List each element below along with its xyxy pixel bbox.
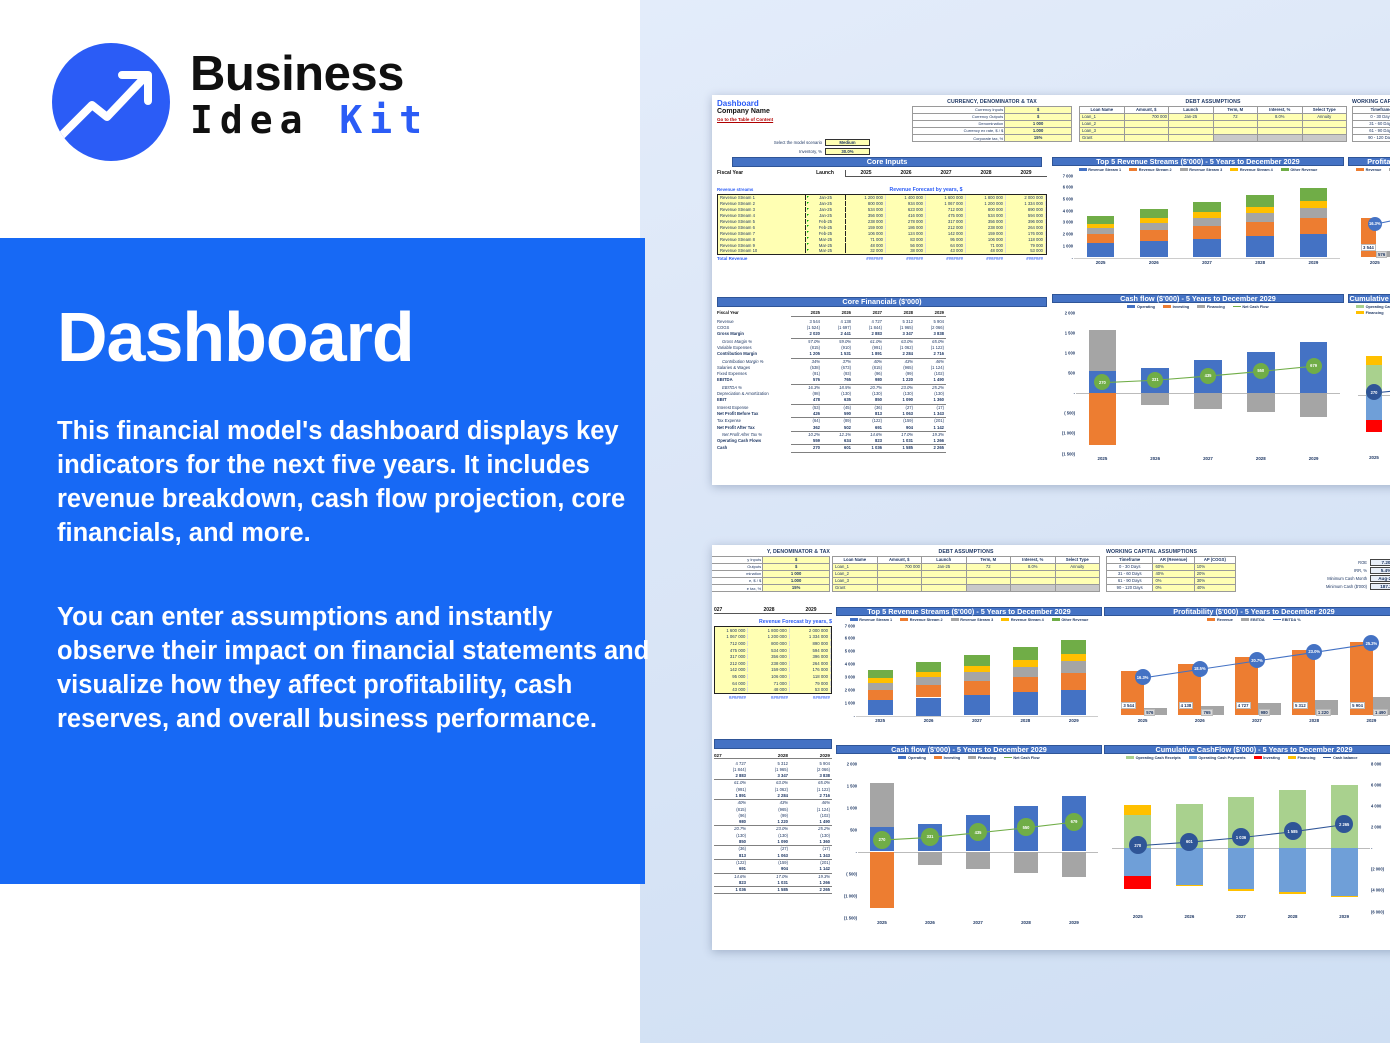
currency-row-value[interactable]: 1 000 [1005,121,1072,128]
revenue-stream-value[interactable]: 48 000 [748,687,789,692]
currency-denominator-tax-block: Y, DENOMINATOR & TAX y Inputs$Outputs$mi… [712,549,830,592]
debt-block-title: DEBT ASSUMPTIONS [1079,99,1347,105]
debt-cell[interactable] [1302,128,1347,135]
revenue-stream-value[interactable]: 800 000 [748,641,789,646]
table-row: 1 600 0001 800 0002 000 000 [715,627,831,634]
data-point-marker: 550 [1253,363,1269,379]
revenue-stream-value[interactable]: 2 000 000 [790,628,831,633]
revenue-stream-value[interactable]: 83 000 [886,237,926,242]
revenue-stream-value[interactable]: 106 000 [846,231,886,236]
kpi-row: ROE7.20 [1252,559,1390,566]
revenue-stream-value[interactable]: 79 000 [1006,243,1046,248]
revenue-stream-value[interactable]: 800 000 [846,201,886,206]
wc-rows: 0 - 30 Days60%10%31 - 60 Days40%20%61 - … [1107,564,1236,592]
revenue-stream-value[interactable]: 594 000 [1006,213,1046,218]
revenue-stream-value[interactable]: 356 000 [748,654,789,659]
debt-cell[interactable] [1302,121,1347,128]
revenue-stream-value[interactable]: 71 000 [846,237,886,242]
debt-cell[interactable] [1258,121,1303,128]
currency-row-value[interactable]: 15% [1005,135,1072,142]
debt-cell[interactable] [1011,578,1056,585]
revenue-stream-value[interactable]: 124 000 [886,231,926,236]
fin-year-header: 027 [714,753,748,758]
revenue-streams-table[interactable]: 02720282029 Revenue Forecast by years, $… [714,607,832,700]
debt-rows: Loan_1700 000Jan-25728.0%AnnuityLoan_2Lo… [833,564,1100,592]
revenue-stream-value[interactable]: 1 200 000 [748,634,789,639]
bar-segment [1140,209,1168,218]
fin-row-value: 1 090 [748,839,790,845]
bar-segment [1140,218,1168,223]
scenario-controls[interactable]: Select the model scenario Medium Invento… [730,139,870,155]
revenue-stream-value[interactable]: 118 000 [790,674,831,679]
revenue-stream-name[interactable]: Revenue Stream 3 [718,207,806,212]
revenue-stream-value[interactable]: 1 600 000 [715,628,748,633]
revenue-stream-launch[interactable]: Feb-25 [806,219,846,224]
inventory-input[interactable]: 30.0% [825,148,870,155]
comment-marker-icon [807,249,809,251]
revenue-stream-value[interactable]: 890 000 [1006,207,1046,212]
bar-segment [1193,212,1221,218]
wc-cell[interactable]: 60% [1153,564,1194,571]
debt-cell[interactable]: Annuity [1055,564,1100,571]
currency-row-value[interactable]: 1.000 [1005,128,1072,135]
debt-cell[interactable] [922,571,967,578]
revenue-stream-value[interactable]: 317 000 [926,219,966,224]
bar-segment [1300,208,1328,218]
wc-column-header: AR (Revenue) [1153,557,1194,564]
fin-row-value: 3 347 [884,331,915,337]
fin-row-value: 1 220 [748,819,790,825]
wc-cell[interactable]: 0 - 30 Days [1107,564,1153,571]
debt-cell[interactable] [1169,128,1214,135]
debt-cell[interactable]: Jan-25 [922,564,967,571]
fin-row-value: 691 [853,425,884,431]
y-axis-tick: - [1072,255,1073,260]
revenue-stream-name[interactable]: Revenue Stream 2 [718,201,806,206]
currency-row-value[interactable]: 1.000 [763,578,830,585]
wc-cell[interactable]: 10% [1194,564,1235,571]
revenue-stream-launch[interactable]: Mar-25 [806,248,846,253]
revenue-stream-value[interactable]: 475 000 [926,213,966,218]
chart-revenue-streams-bottom[interactable]: Top 5 Revenue Streams ($'000) - 5 Years … [836,607,1102,743]
revenue-stream-value[interactable]: 176 000 [1006,231,1046,236]
table-row: 475 000534 000594 000 [715,647,831,654]
revenue-stream-value[interactable]: 71 000 [966,243,1006,248]
y-axis-tick: 1 000 [845,700,855,705]
fin-row: Cash2706011 0361 5852 265 [717,445,1047,451]
currency-row: Currency ex rate, $ / $1.000 [913,128,1072,135]
revenue-stream-value[interactable]: 396 000 [790,654,831,659]
dashboard-sheet-bottom[interactable]: Y, DENOMINATOR & TAX y Inputs$Outputs$mi… [712,545,1390,950]
revenue-stream-launch[interactable]: Mar-25 [806,237,846,242]
brand-idea-text: Idea [190,98,339,142]
wc-cell[interactable]: 61 - 90 Days [1353,128,1390,135]
core-inputs-band: Core Inputs [732,157,1042,167]
bar-segment [1013,677,1038,692]
wc-cell[interactable]: 31 - 60 Days [1107,571,1153,578]
currency-row-label: e tax, % [712,585,763,592]
revenue-stream-value[interactable]: 800 000 [966,207,1006,212]
revenue-stream-value[interactable]: 1 067 000 [715,634,748,639]
revenue-stream-value[interactable]: 71 000 [748,681,789,686]
revenue-stream-value[interactable]: 1 334 000 [1006,201,1046,206]
revenue-stream-value[interactable]: 212 000 [926,225,966,230]
revenue-stream-value[interactable]: 95 000 [926,237,966,242]
kpi-row: IRR, %5.4% [1252,567,1390,574]
y-axis-tick: 3 000 [845,674,855,679]
fin-year-header: 2025 [791,310,822,316]
bar-segment [1140,230,1168,241]
fin-row-value: 1 266 [915,438,946,444]
revenue-stream-value[interactable]: 934 000 [886,201,926,206]
revenue-stream-name[interactable]: Revenue Stream 5 [718,219,806,224]
fin-row-value: 1 891 [714,793,748,799]
currency-row-value[interactable]: $ [763,564,830,571]
total-revenue-value: ####### [714,695,748,700]
fin-row-value: 2 716 [790,793,832,799]
wc-cell[interactable]: 40% [1194,585,1235,592]
currency-row: mination1 000 [712,571,830,578]
revenue-stream-launch[interactable]: Jan-25 [806,201,846,206]
revenue-stream-value[interactable]: 264 000 [790,661,831,666]
table-row: Revenue Stream 8Mar-2571 00083 00095 000… [718,236,1046,242]
debt-cell[interactable]: 8.0% [1011,564,1056,571]
debt-cell[interactable]: 700 000 [1124,114,1169,121]
fin-row-value: 2 265 [790,887,832,893]
revenue-stream-value[interactable]: 56 000 [886,243,926,248]
revenue-stream-value[interactable]: 159 000 [966,231,1006,236]
table-row: 31 - 60 Days40%20% [1353,121,1390,128]
comment-marker-icon [807,231,809,233]
debt-cell[interactable] [1169,135,1214,142]
revenue-stream-value[interactable]: 890 000 [790,641,831,646]
data-point-marker: 331 [1147,372,1163,388]
currency-row-value[interactable]: 1 000 [763,571,830,578]
revenue-stream-name[interactable]: Revenue Stream 9 [718,243,806,248]
table-of-contents-link[interactable]: Go to the Table of Content [717,117,773,123]
revenue-stream-value[interactable]: 212 000 [715,661,748,666]
revenue-stream-value[interactable]: 396 000 [1006,219,1046,224]
debt-cell[interactable] [922,585,967,592]
revenue-stream-launch[interactable]: Jan-25 [806,195,846,200]
bar-segment [1140,223,1168,230]
revenue-stream-name[interactable]: Revenue Stream 7 [718,231,806,236]
revenue-stream-value[interactable]: 53 000 [1006,248,1046,253]
revenue-stream-value[interactable]: 317 000 [715,654,748,659]
currency-block-title: Y, DENOMINATOR & TAX [712,549,830,555]
debt-cell[interactable] [1124,135,1169,142]
wc-cell[interactable]: 90 - 120 Days [1107,585,1153,592]
data-point-marker: 331 [921,828,939,846]
currency-row-label: Currency ex rate, $ / $ [913,128,1005,135]
chart-cash-flow-bottom[interactable]: Cash flow ($'000) - 5 Years to December … [836,745,1102,945]
chart-cumulative-cashflow-top[interactable]: Cumulative CashFlow ($'000) - 5 Years to… [1348,294,1390,479]
bar-segment [916,662,941,672]
fin-row-label: Cash [717,445,791,451]
table-row: Grant [1080,135,1347,142]
wc-cell[interactable]: 0% [1153,585,1194,592]
comment-marker-icon [807,225,809,227]
revenue-stream-value[interactable]: 64 000 [715,681,748,686]
bar-segment [1087,234,1115,243]
debt-cell[interactable] [1124,128,1169,135]
revenue-stream-value[interactable]: 1 800 000 [748,628,789,633]
revenue-stream-value[interactable]: 1 600 000 [926,195,966,200]
scenario-select[interactable]: Medium [825,139,870,146]
debt-cell[interactable] [1213,121,1258,128]
debt-cell[interactable] [1258,135,1303,142]
revenue-stream-value[interactable]: 38 000 [886,248,926,253]
debt-cell[interactable] [1213,128,1258,135]
core-inputs-year-header: Fiscal Year Launch 20252026202720282029 [717,170,1047,177]
revenue-stream-value[interactable]: 623 000 [886,207,926,212]
debt-cell[interactable]: Loan_3 [833,578,878,585]
revenue-stream-value[interactable]: 106 000 [966,237,1006,242]
fin-row-value: 426 [791,411,822,417]
debt-header-row: Loan NameAmount, $LaunchTerm, MInterest,… [833,557,1100,564]
data-point-marker: 679 [1306,358,1322,374]
chart-title: Cash flow ($'000) - 5 Years to December … [1052,294,1344,303]
data-point-marker: 270 [873,831,891,849]
chart-cumulative-cashflow-bottom[interactable]: Cumulative CashFlow ($'000) - 5 Years to… [1104,745,1390,945]
revenue-stream-value[interactable]: 1 067 000 [926,201,966,206]
revenue-stream-value[interactable]: 43 000 [926,248,966,253]
currency-row-value[interactable]: $ [1005,114,1072,121]
debt-cell[interactable] [1011,571,1056,578]
brand-wordmark: Business Idea Kit [190,49,429,142]
revenue-stream-value[interactable]: 95 000 [715,674,748,679]
sheet-header: Dashboard Company Name Go to the Table o… [717,99,773,123]
table-row: Loan_3 [1080,128,1347,135]
currency-row: Outputs$ [712,564,830,571]
comment-marker-icon [807,208,809,210]
wc-cell[interactable]: 90 - 120 Days [1353,135,1390,142]
revenue-stream-value[interactable]: 278 000 [886,219,926,224]
debt-cell[interactable] [1213,135,1258,142]
revenue-stream-value[interactable]: 43 000 [715,687,748,692]
currency-row-label: Currency Inputs [913,107,1005,114]
fin-row-value: 362 [791,425,822,431]
currency-row-value[interactable]: $ [763,557,830,564]
bar-segment [1246,236,1274,257]
debt-cell[interactable]: Loan_1 [833,564,878,571]
fin-row: 1 8912 2842 716 [714,793,834,799]
chart-profitability-bottom[interactable]: Profitability ($'000) - 5 Years to Decem… [1104,607,1390,743]
revenue-stream-value[interactable]: 118 000 [1006,237,1046,242]
table-row: 90 - 120 Days0%40% [1107,585,1236,592]
revenue-stream-name[interactable]: Revenue Stream 1 [718,195,806,200]
table-row: 90 - 120 Days0%40% [1353,135,1390,142]
revenue-stream-value[interactable]: 159 000 [748,667,789,672]
debt-cell[interactable] [877,585,922,592]
wc-cell[interactable]: 31 - 60 Days [1353,121,1390,128]
data-point-marker: 18.5% [1192,661,1208,677]
debt-cell[interactable]: 72 [966,564,1011,571]
fin-row-value: 2 441 [822,331,853,337]
table-row: 317 000356 000396 000 [715,653,831,660]
chart-revenue-streams-top[interactable]: Top 5 Revenue Streams ($'000) - 5 Years … [1052,157,1344,285]
revenue-stream-value[interactable]: 106 000 [748,674,789,679]
debt-cell[interactable]: Annuity [1302,114,1347,121]
revenue-stream-value[interactable]: 416 000 [886,213,926,218]
revenue-stream-value[interactable]: 2 000 000 [1006,195,1046,200]
revenue-stream-value[interactable]: 142 000 [715,667,748,672]
debt-cell[interactable]: Loan_2 [833,571,878,578]
comment-marker-icon [807,214,809,216]
wc-cell[interactable]: 20% [1194,571,1235,578]
debt-cell[interactable]: Grant [833,585,878,592]
wc-header-row: TimeframeAR (Revenue)AP (COGS) [1353,107,1390,114]
table-row: Loan_1700 000Jan-25728.0%Annuity [1080,114,1347,121]
chart-title: Cash flow ($'000) - 5 Years to December … [836,745,1102,754]
revenue-stream-value[interactable]: 1 334 000 [790,634,831,639]
revenue-stream-value[interactable]: 356 000 [846,213,886,218]
revenue-stream-value[interactable]: 534 000 [748,648,789,653]
wc-cell[interactable]: 0% [1153,578,1194,585]
debt-cell[interactable] [966,578,1011,585]
revenue-stream-value[interactable]: 238 000 [846,219,886,224]
revenue-stream-value[interactable]: 356 000 [966,219,1006,224]
wc-cell[interactable]: 30% [1194,578,1235,585]
currency-row-value[interactable]: $ [1005,107,1072,114]
currency-row-value[interactable]: 15% [763,585,830,592]
debt-cell[interactable] [1011,585,1056,592]
revenue-stream-launch[interactable]: Feb-25 [806,225,846,230]
fin-row-value: 823 [714,880,748,886]
debt-cell[interactable]: Jan-25 [1169,114,1214,121]
chart-plot: (1 500)(1 000)( 500)-5001 0001 5002 0002… [836,760,1102,928]
revenue-stream-value[interactable]: 534 000 [846,207,886,212]
debt-cell[interactable] [1169,121,1214,128]
fin-row-value: 635 [822,397,853,403]
revenue-stream-value[interactable]: 712 000 [926,207,966,212]
table-row: Revenue Stream 6Feb-25159 000186 000212 … [718,224,1046,230]
bar-segment [868,670,893,678]
debt-cell[interactable]: Loan_3 [1080,128,1125,135]
debt-cell[interactable]: 8.0% [1258,114,1303,121]
debt-cell[interactable] [877,571,922,578]
brand-kit-text: Kit [339,98,429,142]
revenue-stream-value[interactable]: 79 000 [790,681,831,686]
wc-cell[interactable]: 0 - 30 Days [1353,114,1390,121]
revenue-stream-name[interactable]: Revenue Stream 4 [718,213,806,218]
currency-row: Denomination1 000 [913,121,1072,128]
revenue-stream-launch[interactable]: Jan-25 [806,213,846,218]
debt-cell[interactable] [966,571,1011,578]
revenue-stream-value[interactable]: 176 000 [790,667,831,672]
wc-cell[interactable]: 40% [1153,571,1194,578]
data-point-marker: 435 [1200,368,1216,384]
revenue-stream-launch[interactable]: Jan-25 [806,207,846,212]
chart-title: Top 5 Revenue Streams ($'000) - 5 Years … [836,607,1102,616]
debt-cell[interactable] [922,578,967,585]
debt-cell[interactable] [1258,128,1303,135]
core-financials-band [714,739,832,749]
wc-cell[interactable]: 61 - 90 Days [1107,578,1153,585]
revenue-stream-value[interactable]: 32 000 [846,248,886,253]
revenue-stream-value[interactable]: 186 000 [886,225,926,230]
revenue-stream-value[interactable]: 64 000 [926,243,966,248]
revenue-stream-value[interactable]: 594 000 [790,648,831,653]
revenue-stream-name[interactable]: Revenue Stream 8 [718,237,806,242]
debt-cell[interactable]: Grant [1080,135,1125,142]
chart-cash-flow-top[interactable]: Cash flow ($'000) - 5 Years to December … [1052,294,1344,479]
revenue-stream-value[interactable]: 48 000 [846,243,886,248]
revenue-streams-table[interactable]: Revenue streams Revenue Forecast by year… [717,187,1047,261]
debt-column-header: Loan Name [1080,107,1125,114]
revenue-stream-name[interactable]: Revenue Stream 6 [718,225,806,230]
kpi-row: Minimum Cash ($'000)187.2 [1252,583,1390,590]
debt-cell[interactable]: 700 000 [877,564,922,571]
revenue-rows-box: Revenue Stream 1Jan-251 200 0001 400 000… [717,194,1047,255]
working-capital-title: WORKING CAPITAL ASSUMPTIONS [1352,99,1390,105]
debt-rows: Loan_1700 000Jan-25728.0%AnnuityLoan_2Lo… [1080,114,1347,142]
revenue-stream-value[interactable]: 264 000 [1006,225,1046,230]
fin-row-value: 2 284 [748,793,790,799]
kpi-label: ROE [1358,560,1367,565]
wc-rows: 0 - 30 Days60%10%31 - 60 Days40%20%61 - … [1353,114,1390,142]
debt-cell[interactable] [1124,121,1169,128]
revenue-stream-value[interactable]: 142 000 [926,231,966,236]
revenue-stream-value[interactable]: 475 000 [715,648,748,653]
revenue-stream-value[interactable]: 1 200 000 [846,195,886,200]
debt-column-header: Loan Name [833,557,878,564]
revenue-stream-value[interactable]: 53 000 [790,687,831,692]
brand-logo: Business Idea Kit [52,35,472,170]
y-axis-tick: 2 000 [1063,232,1073,237]
revenue-forecast-title: Revenue Forecast by years, $ [714,619,832,625]
revenue-stream-value[interactable]: 1 200 000 [966,201,1006,206]
debt-cell[interactable] [966,585,1011,592]
debt-cell[interactable]: Loan_1 [1080,114,1125,121]
debt-cell[interactable]: Loan_2 [1080,121,1125,128]
table-row: 712 000800 000890 000 [715,640,831,647]
dashboard-sheet-top[interactable]: Dashboard Company Name Go to the Table o… [712,95,1390,485]
revenue-stream-value[interactable]: 712 000 [715,641,748,646]
debt-cell[interactable]: 72 [1213,114,1258,121]
debt-cell[interactable] [877,578,922,585]
revenue-stream-value[interactable]: 238 000 [748,661,789,666]
revenue-stream-value[interactable]: 534 000 [966,213,1006,218]
revenue-stream-value[interactable]: 159 000 [846,225,886,230]
revenue-stream-launch[interactable]: Mar-25 [806,243,846,248]
page-title: Dashboard [57,297,617,377]
revenue-stream-value[interactable]: 238 000 [966,225,1006,230]
table-row: Revenue Stream 7Feb-25106 000124 000142 … [718,230,1046,236]
y-axis-tick: 5 000 [845,649,855,654]
chart-profitability-top[interactable]: Profitability ($'000) - 5 Years to Decem… [1348,157,1390,285]
revenue-stream-name[interactable]: Revenue Stream 10 [718,248,806,253]
revenue-stream-value[interactable]: 48 000 [966,248,1006,253]
y-axis-tick: 1 000 [1063,243,1073,248]
bar-segment [1061,640,1086,654]
scenario-label: Select the model scenario [774,140,822,145]
revenue-stream-value[interactable]: 1 400 000 [886,195,926,200]
fin-row-value: 1 031 [748,880,790,886]
debt-cell[interactable] [1302,135,1347,142]
bar-segment [1246,195,1274,206]
revenue-stream-value[interactable]: 1 800 000 [966,195,1006,200]
debt-cell[interactable] [1055,578,1100,585]
wc-header-row: TimeframeAR (Revenue)AP (COGS) [1107,557,1236,564]
x-axis-tick: 2027 [953,718,1001,723]
debt-cell[interactable] [1055,571,1100,578]
revenue-stream-launch[interactable]: Feb-25 [806,231,846,236]
core-financials-table: 02720282029 4 7275 3125 904(1 844)(1 965… [714,753,834,894]
kpi-value: 5.4% [1370,567,1390,574]
debt-cell[interactable] [1055,585,1100,592]
bar-segment [1087,243,1115,257]
